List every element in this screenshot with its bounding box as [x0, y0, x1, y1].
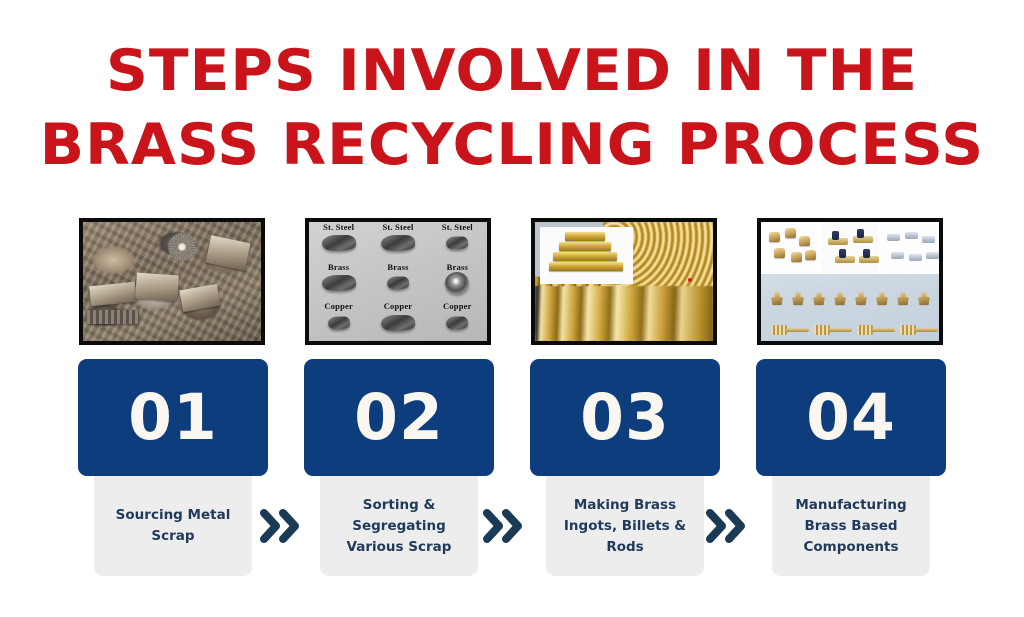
step-card-04: 04 Manufacturing Brass Based Components	[756, 218, 946, 580]
sample-label: Brass	[368, 262, 427, 272]
sample-label: Brass	[309, 262, 368, 272]
step-caption-box-02: Sorting & Segregating Various Scrap	[320, 476, 478, 576]
step-number-01: 01	[128, 386, 218, 449]
double-chevron-right-icon	[258, 502, 304, 550]
page-title-line-2: BRASS RECYCLING PROCESS	[0, 108, 1024, 182]
sample-label: Copper	[368, 301, 427, 311]
sample-label: St. Steel	[428, 222, 487, 232]
double-chevron-right-icon	[704, 502, 750, 550]
step-caption-04: Manufacturing Brass Based Components	[778, 495, 924, 558]
infographic-page: STEPS INVOLVED IN THE BRASS RECYCLING PR…	[0, 0, 1024, 617]
step-caption-box-03: Making Brass Ingots, Billets & Rods	[546, 476, 704, 576]
step-number-plate-02: 02	[304, 359, 494, 476]
sample-label: Copper	[309, 301, 368, 311]
step-number-plate-03: 03	[530, 359, 720, 476]
step-card-02: St. Steel St. Steel St. Steel Brass	[304, 218, 494, 580]
sample-label: Copper	[428, 301, 487, 311]
step-card-01: 01 Sourcing Metal Scrap	[78, 218, 268, 580]
step-number-02: 02	[354, 386, 444, 449]
step-caption-01: Sourcing Metal Scrap	[100, 505, 246, 547]
sample-label: St. Steel	[368, 222, 427, 232]
step-card-03: 03 Making Brass Ingots, Billets & Rods	[530, 218, 720, 580]
photo-brass-ingots-and-rods	[531, 218, 717, 345]
gear-shape-icon	[168, 233, 196, 261]
page-title-line-1: STEPS INVOLVED IN THE	[0, 34, 1024, 108]
step-caption-02: Sorting & Segregating Various Scrap	[326, 495, 472, 558]
step-caption-03: Making Brass Ingots, Billets & Rods	[552, 495, 698, 558]
photo-brass-components	[757, 218, 943, 345]
photo-metal-scrap-pile	[79, 218, 265, 345]
step-number-plate-01: 01	[78, 359, 268, 476]
step-number-03: 03	[580, 386, 670, 449]
sample-label: Brass	[428, 262, 487, 272]
step-number-04: 04	[806, 386, 896, 449]
step-number-plate-04: 04	[756, 359, 946, 476]
step-caption-box-01: Sourcing Metal Scrap	[94, 476, 252, 576]
page-title: STEPS INVOLVED IN THE BRASS RECYCLING PR…	[0, 34, 1024, 182]
double-chevron-right-icon	[481, 502, 527, 550]
photo-sorted-metal-samples: St. Steel St. Steel St. Steel Brass	[305, 218, 491, 345]
sample-label: St. Steel	[309, 222, 368, 232]
step-caption-box-04: Manufacturing Brass Based Components	[772, 476, 930, 576]
